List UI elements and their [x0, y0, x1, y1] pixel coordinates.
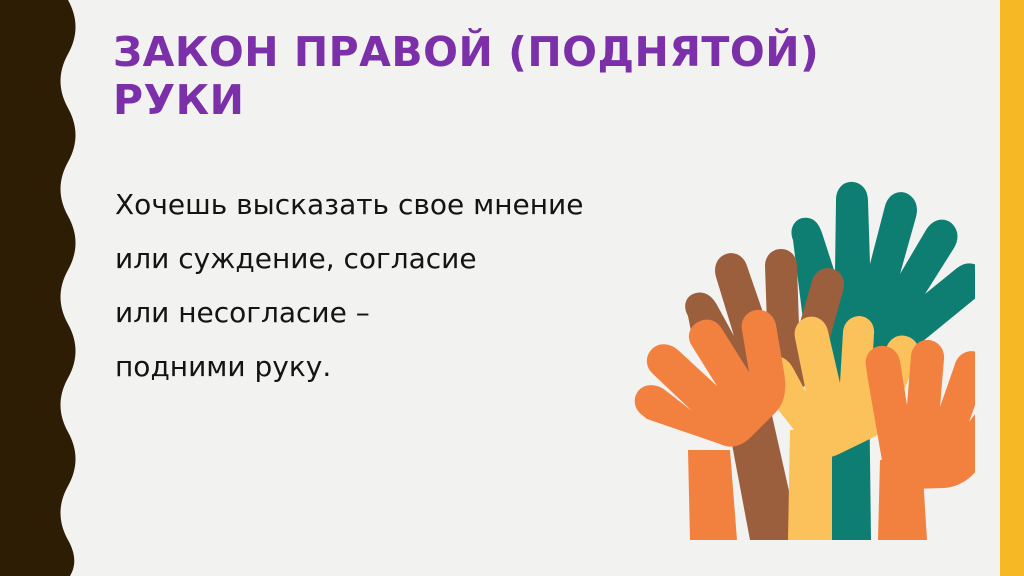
page-title: ЗАКОН ПРАВОЙ (ПОДНЯТОЙ) РУКИ — [113, 28, 923, 125]
body-paragraph: Хочешь высказать свое мнение или суждени… — [115, 178, 715, 394]
left-wavy-band — [0, 0, 110, 576]
slide-canvas: ЗАКОН ПРАВОЙ (ПОДНЯТОЙ) РУКИ Хочешь выск… — [0, 0, 1024, 576]
orange-hand-right-icon — [866, 340, 975, 540]
right-accent-strip — [1000, 0, 1024, 576]
left-wave-shape — [0, 0, 76, 576]
raised-hands-illustration — [630, 140, 975, 550]
